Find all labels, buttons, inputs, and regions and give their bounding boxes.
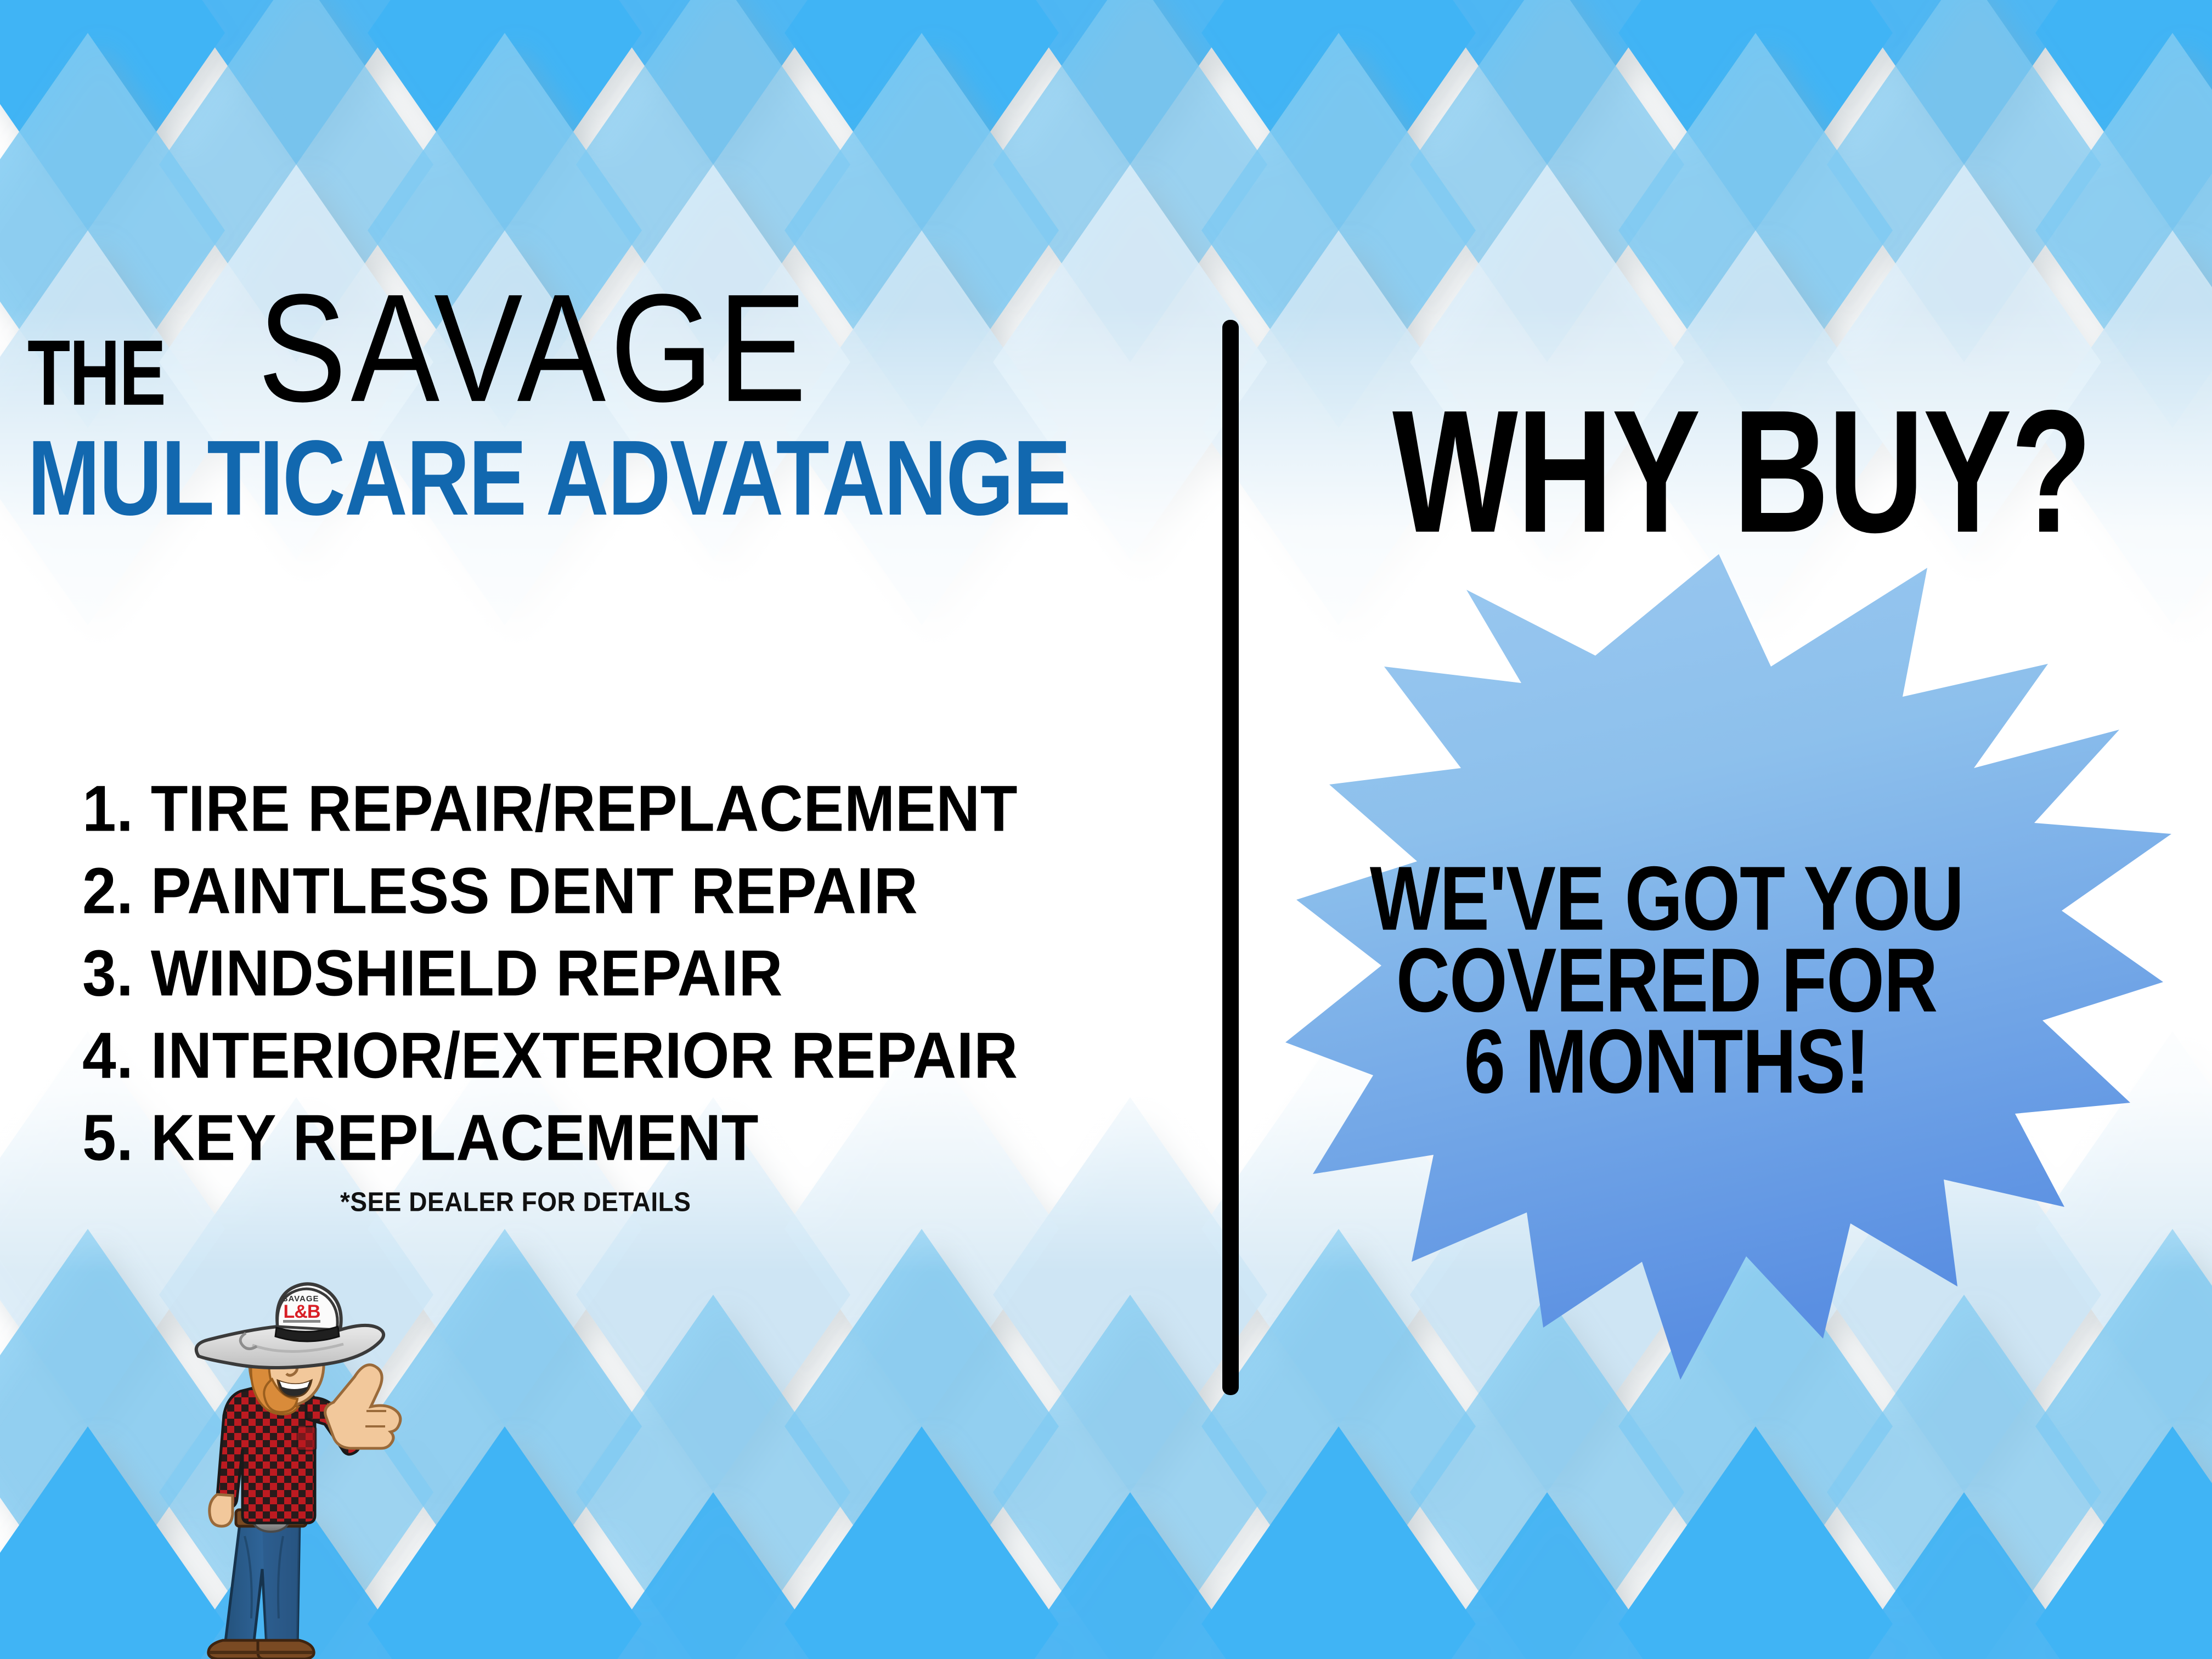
right-panel: WHY BUY? WE'VE GOT YOU COVERED FOR 6 MON… — [1239, 0, 2212, 1659]
starburst-text: WE'VE GOT YOU COVERED FOR 6 MONTHS! — [1285, 855, 2048, 1090]
left-panel: THE SAVAGE MULTICARE ADVATANGE 1. TIRE R… — [0, 0, 1222, 1659]
list-item: 2. PAINTLESS DENT REPAIR — [82, 859, 1169, 924]
mascot-cowboy-hat: SAVAGE L&B — [196, 1284, 383, 1368]
list-item: 3. WINDSHIELD REPAIR — [82, 941, 1169, 1006]
list-item: 4. INTERIOR/EXTERIOR REPAIR — [82, 1023, 1169, 1088]
headline-block: THE SAVAGE MULTICARE ADVATANGE — [27, 313, 1185, 515]
mascot-thumbs-up-hand — [325, 1365, 400, 1448]
headline-row-primary: THE SAVAGE — [27, 313, 1185, 417]
headline-subtitle: MULTICARE ADVATANGE — [27, 425, 1144, 532]
headline-word-savage: SAVAGE — [258, 279, 811, 417]
mascot-left-hand — [210, 1494, 233, 1526]
savage-lb-cowboy-mascot: SAVAGE — [170, 1262, 433, 1659]
disclaimer-text: *SEE DEALER FOR DETAILS — [340, 1186, 691, 1217]
burst-line-3: 6 MONTHS! — [1285, 1018, 2048, 1105]
hat-logo-lb: L&B — [284, 1301, 320, 1322]
list-item: 5. KEY REPLACEMENT — [82, 1105, 1169, 1171]
mascot-jeans — [225, 1520, 300, 1646]
why-buy-title: WHY BUY? — [1392, 384, 2091, 559]
list-item: 1. TIRE REPAIR/REPLACEMENT — [82, 776, 1169, 842]
vertical-divider — [1222, 320, 1239, 1395]
services-list: 1. TIRE REPAIR/REPLACEMENT 2. PAINTLESS … — [82, 776, 1180, 1188]
starburst-badge: WE'VE GOT YOU COVERED FOR 6 MONTHS! — [1285, 549, 2171, 1383]
headline-word-the: THE — [27, 329, 165, 417]
mascot-boots — [208, 1640, 314, 1659]
